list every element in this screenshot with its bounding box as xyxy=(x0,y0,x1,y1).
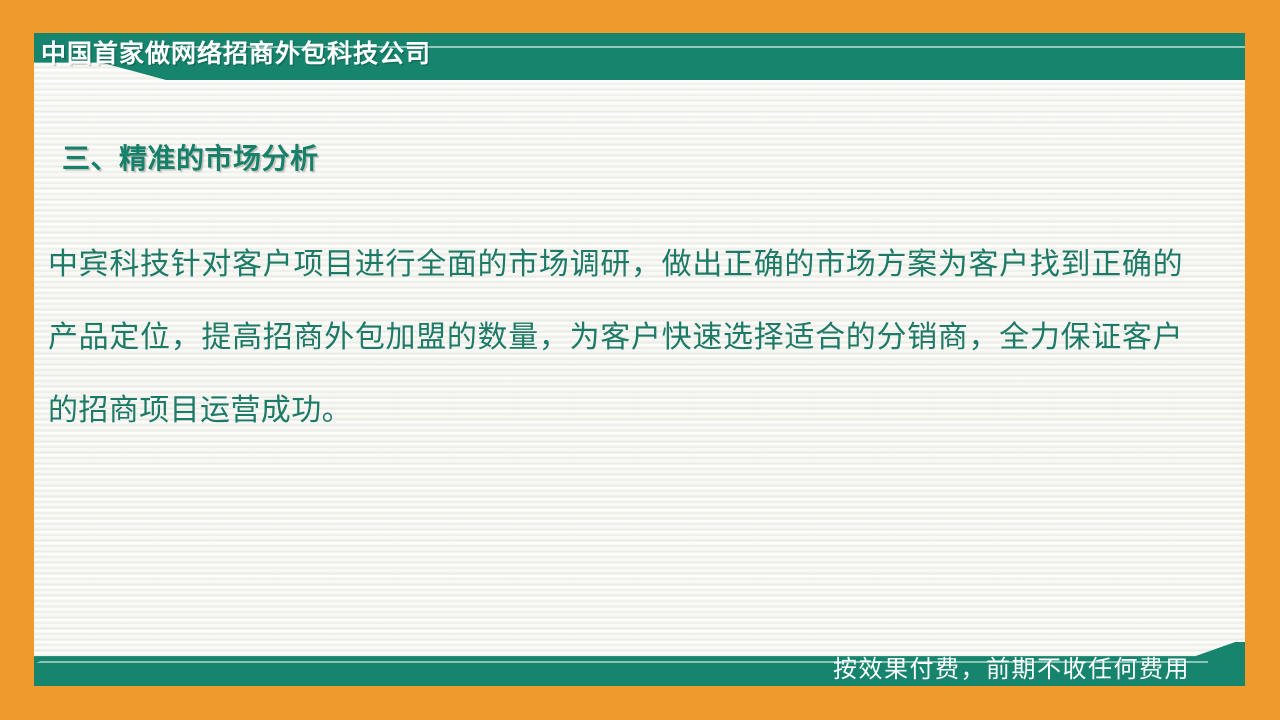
frame-band-left xyxy=(0,0,34,720)
presentation-slide: 中国首家做网络招商外包科技公司 三、精准的市场分析 中宾科技针对客户项目进行全面… xyxy=(0,0,1280,720)
footer-tagline: 按效果付费，前期不收任何费用 xyxy=(0,649,1226,684)
section-heading: 三、精准的市场分析 xyxy=(62,137,319,177)
body-paragraph: 中宾科技针对客户项目进行全面的市场调研，做出正确的市场方案为客户找到正确的产品定… xyxy=(48,228,1183,447)
header-title: 中国首家做网络招商外包科技公司 xyxy=(41,37,431,71)
frame-band-bottom xyxy=(0,686,1280,720)
frame-band-right xyxy=(1245,0,1280,720)
frame-band-top xyxy=(0,0,1280,33)
